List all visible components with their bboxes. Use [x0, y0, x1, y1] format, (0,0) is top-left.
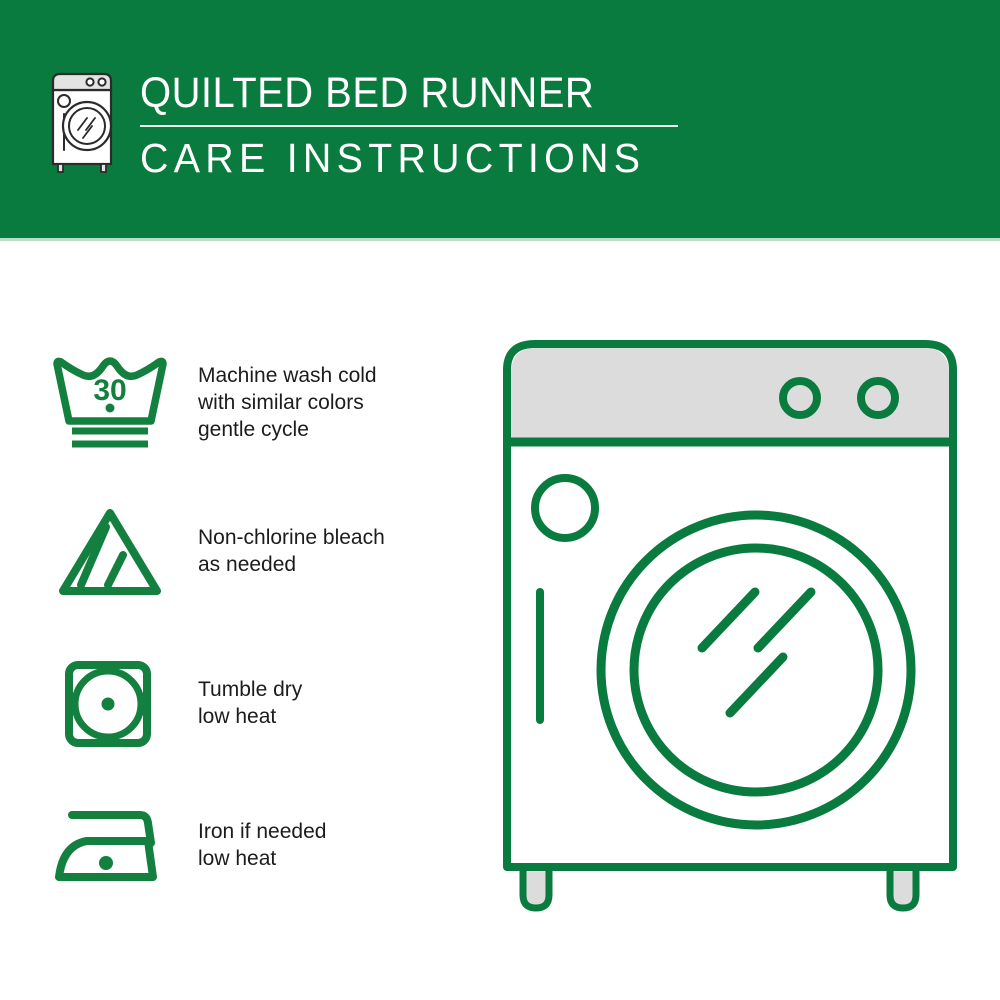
care-item-tumble-dry: Tumble dry low heat — [50, 650, 450, 755]
knob-left — [783, 381, 817, 415]
care-item-bleach: Non-chlorine bleach as needed — [50, 498, 450, 603]
tumble-dry-low-heat-icon — [50, 650, 170, 755]
header-text-block: QUILTED BED RUNNER CARE INSTRUCTIONS — [140, 70, 840, 181]
svg-text:30: 30 — [93, 374, 126, 407]
care-item-tumble-dry-label: Tumble dry low heat — [198, 676, 302, 730]
machine-dial — [535, 478, 595, 538]
care-item-wash-label: Machine wash cold with similar colors ge… — [198, 362, 377, 443]
header-bottom-edge — [0, 238, 1000, 241]
care-instructions-infographic: QUILTED BED RUNNER CARE INSTRUCTIONS 30 — [0, 0, 1000, 1000]
care-item-iron-label: Iron if needed low heat — [198, 818, 326, 872]
page-title: QUILTED BED RUNNER — [140, 70, 791, 116]
washing-machine-icon — [45, 68, 127, 173]
page-subtitle: CARE INSTRUCTIONS — [140, 135, 812, 181]
drum-inner-ring — [634, 548, 878, 792]
iron-low-heat-icon — [50, 792, 170, 897]
knob-right — [861, 381, 895, 415]
care-item-bleach-label: Non-chlorine bleach as needed — [198, 524, 385, 578]
care-item-iron: Iron if needed low heat — [50, 792, 450, 897]
wash-tub-30-gentle-icon: 30 — [50, 350, 170, 455]
title-divider — [140, 125, 678, 127]
non-chlorine-bleach-triangle-icon — [50, 498, 170, 603]
header-banner: QUILTED BED RUNNER CARE INSTRUCTIONS — [0, 0, 1000, 238]
care-item-wash: 30 Machine wash cold with similar colors… — [50, 350, 450, 455]
front-load-washing-machine-illustration — [490, 330, 970, 940]
